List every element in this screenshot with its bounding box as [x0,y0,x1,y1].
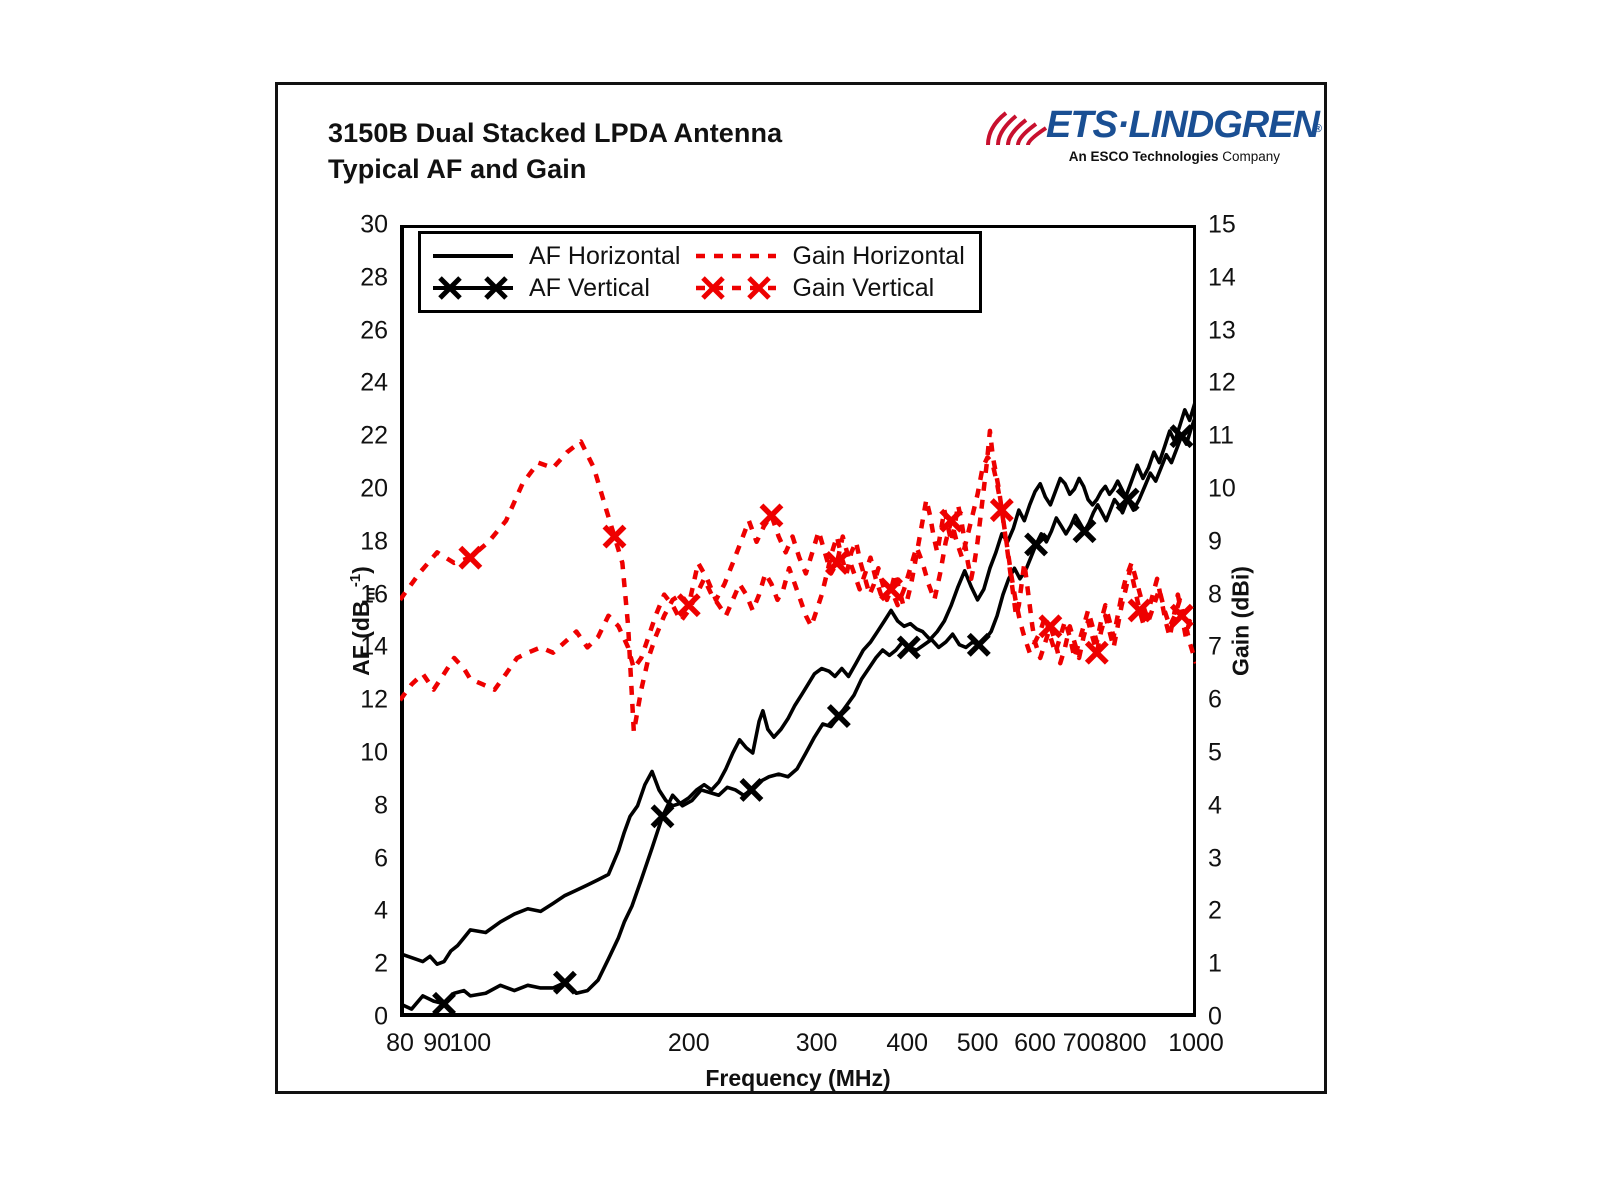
y-axis-right-tick: 2 [1208,897,1222,926]
y-axis-left-tick: 30 [360,211,388,240]
y-axis-right-tick: 7 [1208,633,1222,662]
x-axis-tick: 90 [423,1029,451,1058]
title-line-2: Typical AF and Gain [328,151,948,187]
y-axis-right-tick: 5 [1208,739,1222,768]
signal-waves-icon [984,107,1054,147]
y-axis-right-tick: 10 [1208,475,1236,504]
title-line-1: 3150B Dual Stacked LPDA Antenna [328,115,948,151]
ets-lindgren-logo: ETS·LINDGREN® An ESCO Technologies Compa… [984,103,1284,167]
y-axis-left-tick: 2 [374,950,388,979]
y-axis-left-tick: 6 [374,844,388,873]
y-axis-left-tick: 24 [360,369,388,398]
plot-area: 024681012141618202224262830 012345678910… [400,225,1196,1017]
legend-label: AF Horizontal [529,241,680,271]
y-axis-left-tick: 20 [360,475,388,504]
x-axis-tick: 100 [449,1029,491,1058]
legend-sample-solid [431,275,515,301]
y-axis-right-tick: 9 [1208,527,1222,556]
logo-wordmark-text: ETS·LINDGREN [1046,104,1319,146]
registered-trademark-icon: ® [1314,107,1321,151]
x-axis-tick: 300 [796,1029,838,1058]
y-axis-right-tick: 15 [1208,211,1236,240]
legend-sample-solid [431,243,515,269]
chart-page: 3150B Dual Stacked LPDA Antenna Typical … [0,0,1600,1200]
y-axis-right-tick: 14 [1208,263,1236,292]
y-axis-right-label: Gain (dBi) [1228,566,1255,676]
logo-tagline-bold: An ESCO Technologies [1069,149,1219,164]
logo-tagline: An ESCO Technologies Company [1069,149,1280,164]
chart-frame: 3150B Dual Stacked LPDA Antenna Typical … [275,82,1327,1094]
y-axis-right-tick: 13 [1208,316,1236,345]
y-axis-right-tick: 3 [1208,844,1222,873]
legend-sample-dashed [694,275,778,301]
y-axis-right-tick: 12 [1208,369,1236,398]
y-axis-left-tick: 12 [360,686,388,715]
y-axis-right-tick: 1 [1208,950,1222,979]
legend-label: AF Vertical [529,273,680,303]
y-axis-right-tick: 8 [1208,580,1222,609]
y-axis-left-tick: 26 [360,316,388,345]
x-axis-tick: 1000 [1168,1029,1224,1058]
y-axis-left-tick: 8 [374,791,388,820]
y-axis-left-tick: 0 [374,1003,388,1032]
y-axis-right-tick: 4 [1208,791,1222,820]
logo-tagline-rest: Company [1218,149,1280,164]
chart-legend: AF HorizontalGain HorizontalAF VerticalG… [418,231,982,313]
x-axis-tick: 80 [386,1029,414,1058]
x-axis-tick: 200 [668,1029,710,1058]
y-axis-left-label: AF (dBm-1) [347,566,378,676]
legend-sample-dashed [694,243,778,269]
data-series-layer [400,225,1196,1017]
y-axis-left-tick: 18 [360,527,388,556]
y-axis-right-tick: 11 [1208,422,1234,451]
x-axis-label: Frequency (MHz) [705,1065,890,1092]
x-axis-tick: 800 [1105,1029,1147,1058]
y-axis-right-tick: 6 [1208,686,1222,715]
y-axis-left-tick: 28 [360,263,388,292]
legend-label: Gain Vertical [792,273,964,303]
x-axis-tick: 500 [957,1029,999,1058]
x-axis-tick: 600 [1014,1029,1056,1058]
legend-label: Gain Horizontal [792,241,964,271]
y-axis-left-tick: 10 [360,739,388,768]
logo-wordmark: ETS·LINDGREN® [1046,103,1319,147]
y-axis-left-tick: 22 [360,422,388,451]
y-axis-left-tick: 4 [374,897,388,926]
page-title: 3150B Dual Stacked LPDA Antenna Typical … [328,115,948,188]
x-axis-tick: 400 [886,1029,928,1058]
x-axis-tick: 700 [1063,1029,1105,1058]
y-axis-right-tick: 0 [1208,1003,1222,1032]
